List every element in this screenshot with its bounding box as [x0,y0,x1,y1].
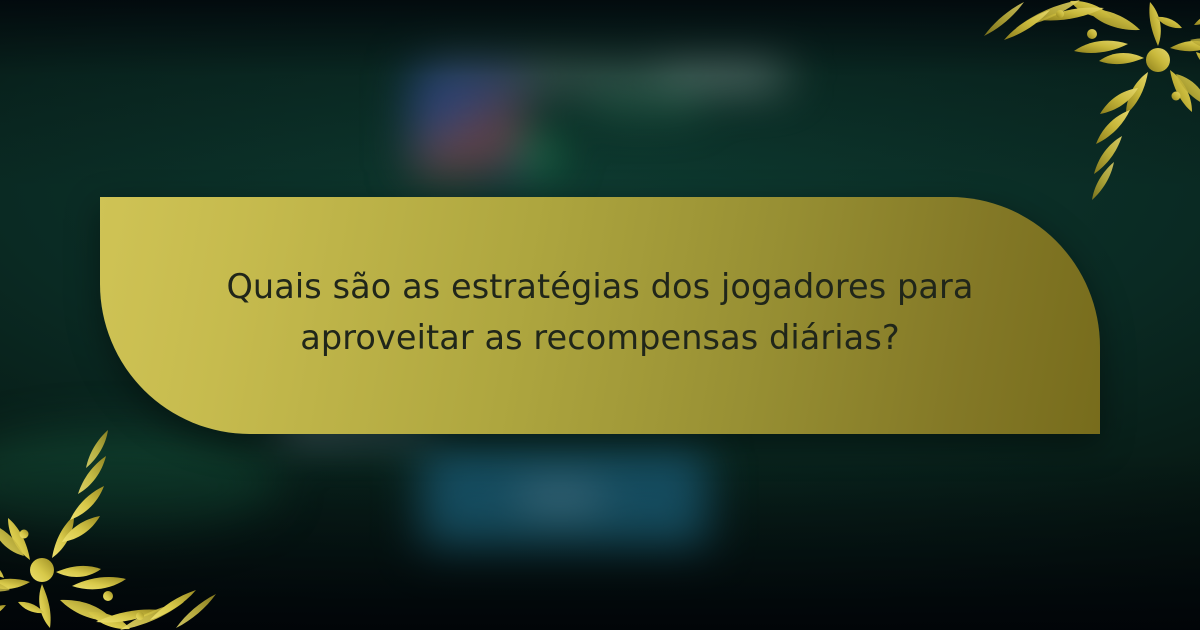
social-card: Quais são as estratégias dos jogadores p… [0,0,1200,630]
question-title: Quais são as estratégias dos jogadores p… [200,262,1000,370]
question-banner: Quais são as estratégias dos jogadores p… [100,197,1100,434]
